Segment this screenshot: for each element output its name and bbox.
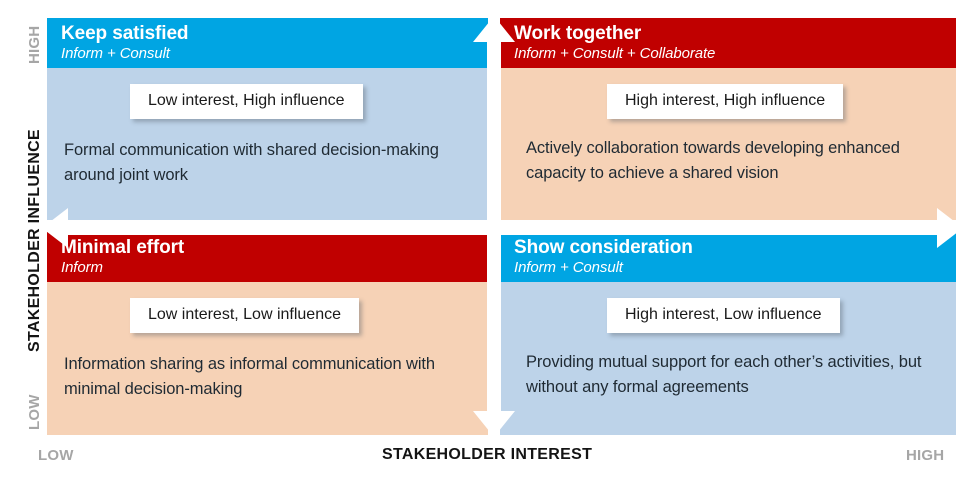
quadrant-title: Show consideration	[514, 237, 956, 259]
quadrant-description: Actively collaboration towards developin…	[526, 136, 946, 186]
quadrant-work-together[interactable]: Work together Inform + Consult + Collabo…	[500, 18, 956, 220]
quadrant-keep-satisfied[interactable]: Keep satisfied Inform + Consult Low inte…	[47, 18, 488, 220]
quadrant-header: Keep satisfied Inform + Consult	[47, 18, 488, 68]
quadrant-description: Information sharing as informal communic…	[64, 352, 488, 402]
quadrant-description: Formal communication with shared decisio…	[64, 138, 484, 188]
quadrant-header: Work together Inform + Consult + Collabo…	[500, 18, 956, 68]
y-axis-title: STAKEHOLDER INFLUENCE	[26, 129, 44, 352]
quadrant-chip-label: Low interest, High influence	[130, 84, 363, 119]
quadrant-title: Minimal effort	[61, 237, 488, 259]
quadrant-chip-label: Low interest, Low influence	[130, 298, 359, 333]
quadrant-header: Minimal effort Inform	[47, 232, 488, 282]
quadrant-title: Work together	[514, 23, 956, 45]
quadrant-show-consideration[interactable]: Show consideration Inform + Consult High…	[500, 232, 956, 435]
stakeholder-matrix: HIGH STAKEHOLDER INFLUENCE LOW LOW STAKE…	[0, 0, 980, 484]
quadrant-minimal-effort[interactable]: Minimal effort Inform Low interest, Low …	[47, 232, 488, 435]
x-axis-high-label: HIGH	[906, 447, 944, 464]
y-axis-low-label: LOW	[26, 394, 43, 430]
quadrant-chip-label: High interest, Low influence	[607, 298, 840, 333]
x-axis-title: STAKEHOLDER INTEREST	[382, 446, 592, 464]
quadrant-chip-label: High interest, High influence	[607, 84, 843, 119]
quadrant-description: Providing mutual support for each other’…	[526, 350, 946, 400]
x-axis-low-label: LOW	[38, 447, 74, 464]
quadrant-subtitle: Inform + Consult	[61, 45, 488, 63]
quadrant-header: Show consideration Inform + Consult	[500, 232, 956, 282]
quadrant-subtitle: Inform	[61, 259, 488, 277]
quadrant-title: Keep satisfied	[61, 23, 488, 45]
quadrant-subtitle: Inform + Consult	[514, 259, 956, 277]
y-axis-high-label: HIGH	[26, 26, 43, 64]
quadrant-subtitle: Inform + Consult + Collaborate	[514, 45, 956, 63]
